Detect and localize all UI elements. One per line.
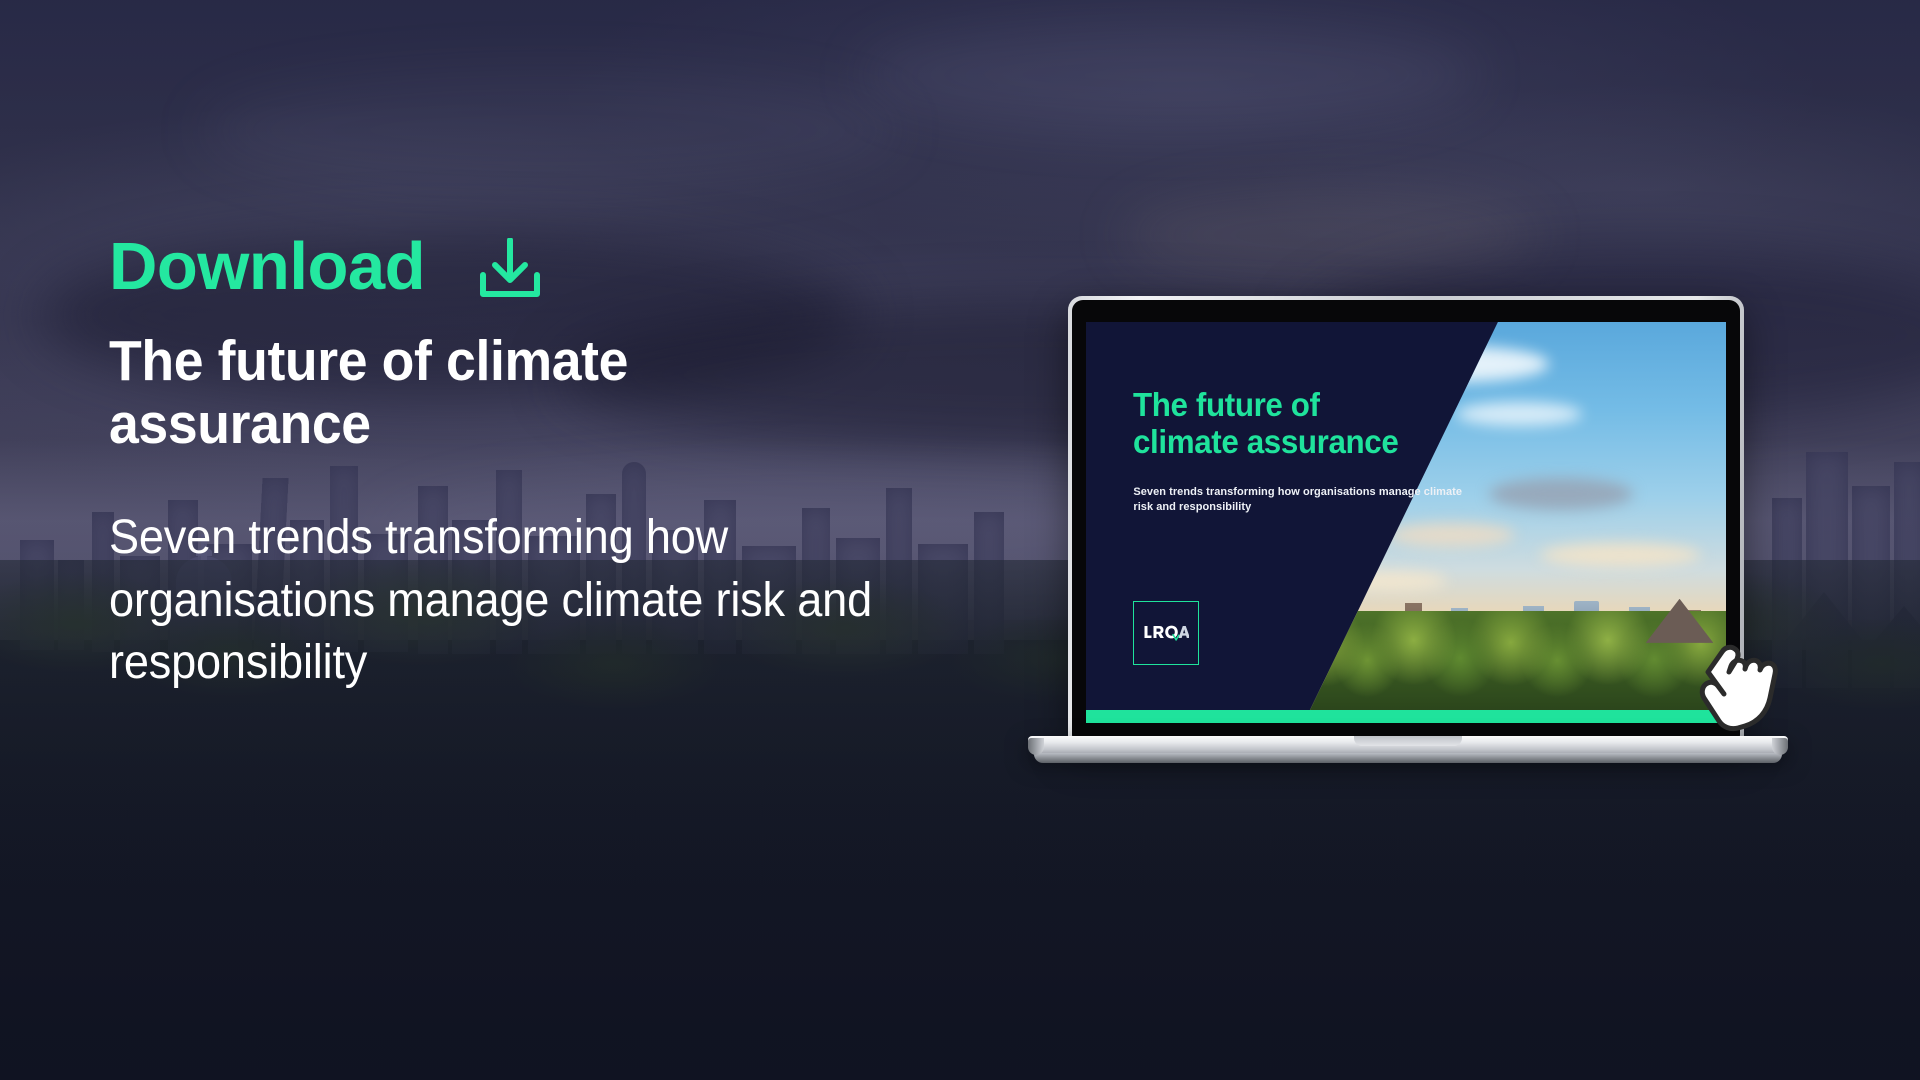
laptop-mockup: The future of climate assurance Seven tr…: [1028, 296, 1788, 786]
promo-subcopy: Seven trends transforming how organisati…: [109, 507, 917, 694]
promo-copy: Download The future of climate assurance…: [109, 232, 969, 695]
laptop-screen[interactable]: The future of climate assurance Seven tr…: [1086, 322, 1726, 723]
photo-cloud: [1388, 523, 1515, 547]
photo-cloud: [1540, 543, 1701, 567]
cover-subtitle: Seven trends transforming how organisati…: [1133, 485, 1465, 516]
download-cta[interactable]: Download: [109, 232, 969, 300]
promo-banner: Download The future of climate assurance…: [0, 0, 1920, 1080]
laptop-lid: The future of climate assurance Seven tr…: [1068, 296, 1744, 741]
cover-text-block: The future of climate assurance Seven tr…: [1133, 386, 1440, 516]
laptop-base-edge-left: [1028, 738, 1044, 755]
cover-title: The future of climate assurance: [1133, 386, 1425, 461]
lrqa-logo: LRQA: [1133, 601, 1199, 665]
laptop-base: [1028, 736, 1788, 764]
pointing-hand-cursor: [1688, 626, 1780, 736]
page-title: The future of climate assurance: [109, 330, 711, 455]
download-arrow-tray-icon[interactable]: [477, 238, 543, 300]
cover-accent-bar: [1086, 710, 1726, 723]
laptop-bezel: The future of climate assurance Seven tr…: [1072, 300, 1740, 737]
photo-cloud: [1363, 346, 1549, 382]
laptop-base-notch: [1354, 736, 1462, 746]
laptop-base-edge-right: [1772, 738, 1788, 755]
laptop-base-lip: [1034, 753, 1782, 763]
lrqa-logo-mark: [1143, 624, 1189, 642]
download-label[interactable]: Download: [109, 233, 425, 300]
cover-photo: [1304, 322, 1726, 723]
